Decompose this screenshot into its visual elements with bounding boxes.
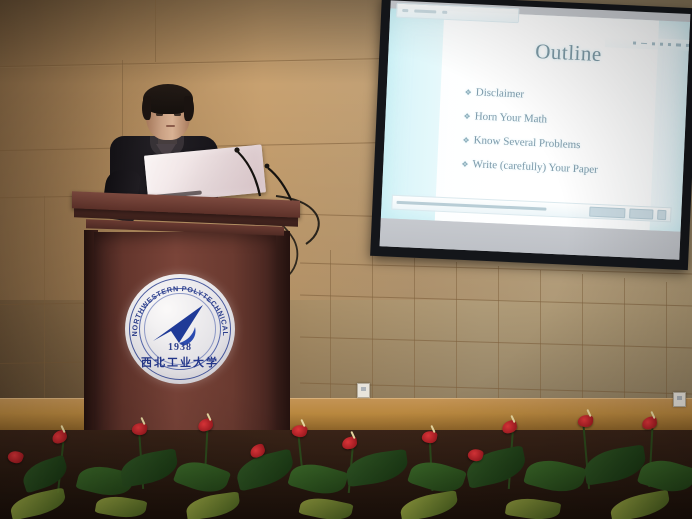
projected-slide: Outline ❖ Disclaimer ❖ Horn Your Math ❖ … (381, 8, 690, 231)
emblem-founding-year: 1938 (125, 342, 235, 353)
flower-bloom (6, 449, 24, 465)
toolbar-icon[interactable] (652, 42, 655, 45)
speaker-mouth (166, 125, 175, 127)
wall-seam (498, 266, 499, 404)
wall-seam (624, 278, 625, 410)
wall-seam (372, 244, 373, 400)
slide-toolbar[interactable] (396, 3, 520, 24)
wall-seam (414, 258, 415, 400)
speaker-hair-side (142, 96, 151, 120)
notification-button[interactable] (629, 208, 653, 219)
wall-seam (330, 250, 331, 400)
flower-bloom (51, 429, 69, 445)
list-item: ❖ Horn Your Math (463, 110, 600, 128)
screen-surface: Outline ❖ Disclaimer ❖ Horn Your Math ❖ … (380, 0, 691, 259)
slide-bullet-list: ❖ Disclaimer ❖ Horn Your Math ❖ Know Sev… (461, 86, 602, 188)
power-outlet (357, 383, 370, 398)
diamond-bullet-icon: ❖ (463, 112, 471, 121)
speaker-hair-side (184, 96, 194, 121)
wall-seam (540, 270, 541, 406)
wall-seam (155, 0, 156, 62)
notification-button[interactable] (589, 206, 625, 218)
toolbar-icon[interactable] (668, 43, 671, 46)
bullet-text: Horn Your Math (474, 110, 547, 125)
presentation-photo-scene: Outline ❖ Disclaimer ❖ Horn Your Math ❖ … (0, 0, 692, 519)
notification-close-icon[interactable] (657, 209, 666, 219)
bullet-text: Know Several Problems (473, 134, 580, 151)
bullet-text: Write (carefully) Your Paper (472, 158, 598, 176)
emblem-chinese-name: 西北工业大学 (125, 354, 235, 370)
toolbar-icon[interactable] (676, 43, 681, 46)
toolbar-icon[interactable] (641, 43, 647, 44)
list-item: ❖ Write (carefully) Your Paper (461, 158, 598, 176)
wall-seam (44, 196, 45, 432)
toolbar-icon[interactable] (660, 43, 663, 46)
list-item: ❖ Know Several Problems (462, 134, 599, 152)
diamond-bullet-icon: ❖ (462, 136, 470, 145)
bullet-text: Disclaimer (476, 86, 525, 100)
wall-seam (582, 274, 583, 408)
wall-seam (666, 282, 667, 412)
notification-text (396, 201, 546, 211)
flower-arrangement (0, 405, 692, 519)
university-emblem: NORTHWESTERN POLYTECHNICAL 1938 西北工业大学 (125, 274, 235, 384)
wall-seam (456, 262, 457, 402)
toolbar-icon[interactable] (686, 44, 689, 47)
diamond-bullet-icon: ❖ (464, 88, 472, 97)
projection-screen: Outline ❖ Disclaimer ❖ Horn Your Math ❖ … (370, 0, 692, 276)
diamond-bullet-icon: ❖ (461, 160, 469, 169)
